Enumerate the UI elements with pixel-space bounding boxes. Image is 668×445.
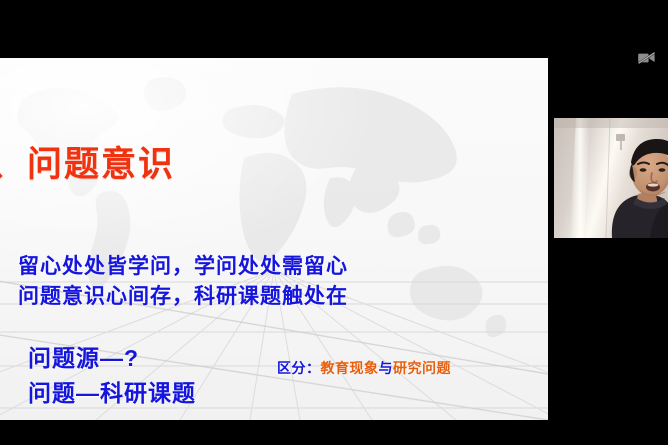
meeting-window: 、问题意识 留心处处皆学问，学问处处需留心 问题意识心间存，科研课题触处在 问题…: [0, 0, 668, 445]
camera-off-icon[interactable]: [637, 50, 657, 66]
slide-body-line-3: 问题源—?: [28, 339, 139, 373]
slide-body-line-1: 留心处处皆学问，学问处处需留心: [18, 250, 348, 280]
distinction-term-b: 研究问题: [393, 360, 451, 376]
shared-screen-slide: 、问题意识 留心处处皆学问，学问处处需留心 问题意识心间存，科研课题触处在 问题…: [0, 58, 548, 420]
slide-title: 、问题意识: [0, 136, 175, 187]
slide-body-line-2: 问题意识心间存，科研课题触处在: [18, 280, 348, 310]
participant-video-tile[interactable]: [554, 118, 668, 238]
distinction-term-a: 教育现象: [321, 360, 379, 376]
distinction-label: 区分：: [277, 360, 321, 376]
slide-body-line-4: 问题—科研课题: [28, 374, 196, 408]
distinction-callout: 区分：教育现象与研究问题: [277, 358, 451, 378]
distinction-conjunction: 与: [379, 360, 394, 376]
